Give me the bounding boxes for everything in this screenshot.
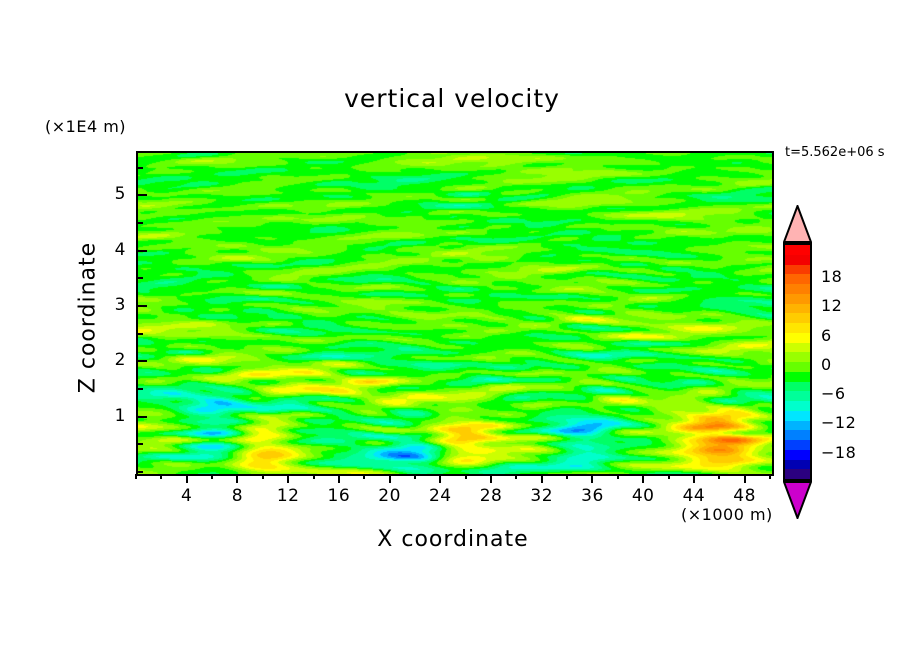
x-tick-major [591,474,593,483]
colorbar-band [785,362,810,372]
colorbar-band [785,343,810,353]
x-tick-label: 44 [672,486,716,506]
colorbar-band [785,274,810,284]
y-tick-minor [138,222,143,224]
y-tick-label: 1 [98,406,126,426]
x-tick-minor [769,474,771,479]
x-tick-minor [160,474,162,479]
y-tick-minor [138,167,143,169]
y-tick-major [138,194,147,196]
vertical-velocity-field [138,153,772,474]
y-tick-major [138,305,147,307]
colorbar-band [785,245,810,255]
colorbar-label: −18 [821,443,856,462]
x-tick-major [439,474,441,483]
page-title: vertical velocity [0,84,904,113]
x-tick-minor [363,474,365,479]
y-tick-minor [138,471,143,473]
colorbar-band [785,450,810,460]
x-tick-minor [515,474,517,479]
x-tick-minor [465,474,467,479]
colorbar-top-arrow-icon [783,205,812,243]
x-tick-minor [262,474,264,479]
colorbar-band [785,323,810,333]
y-tick-minor [138,443,143,445]
x-tick-label: 40 [621,486,665,506]
colorbar-band [785,284,810,294]
x-tick-major [186,474,188,483]
y-tick-minor [138,277,143,279]
x-tick-minor [668,474,670,479]
x-tick-major [389,474,391,483]
x-axis-title: X coordinate [136,527,770,552]
y-tick-major [138,416,147,418]
y-axis-units-label: (×1E4 m) [45,117,126,136]
colorbar-band [785,294,810,304]
x-tick-minor [414,474,416,479]
y-axis-title: Z coordinate [76,208,101,428]
x-tick-label: 12 [266,486,310,506]
x-tick-label: 20 [368,486,412,506]
x-tick-minor [135,474,137,479]
colorbar-bottom-arrow-icon [783,481,812,519]
x-tick-label: 4 [165,486,209,506]
colorbar-label: −6 [821,384,846,403]
x-tick-label: 8 [215,486,259,506]
colorbar-band [785,391,810,401]
x-tick-minor [718,474,720,479]
x-tick-label: 32 [520,486,564,506]
x-tick-major [744,474,746,483]
y-tick-major [138,360,147,362]
y-tick-label: 5 [98,184,126,204]
x-tick-label: 28 [469,486,513,506]
x-tick-label: 36 [570,486,614,506]
y-tick-minor [138,388,143,390]
colorbar-band [785,401,810,411]
x-axis-units-label: (×1000 m) [681,505,773,524]
x-tick-label: 16 [317,486,361,506]
colorbar-band [785,255,810,265]
x-tick-major [541,474,543,483]
x-tick-major [287,474,289,483]
x-tick-label: 48 [723,486,767,506]
contour-plot-area [136,151,774,476]
colorbar-band [785,411,810,421]
x-tick-major [490,474,492,483]
colorbar-band [785,469,810,479]
colorbar-label: 0 [821,355,832,374]
x-tick-minor [211,474,213,479]
x-tick-major [642,474,644,483]
x-tick-minor [617,474,619,479]
colorbar-band [785,372,810,382]
x-tick-minor [313,474,315,479]
timestamp-label: t=5.562e+06 s [785,145,885,160]
colorbar-band [785,313,810,323]
colorbar-bands [783,243,812,481]
colorbar-band [785,304,810,314]
colorbar-band [785,333,810,343]
figure-canvas: vertical velocity (×1E4 m) (×1000 m) t=5… [0,0,904,654]
colorbar-band [785,440,810,450]
y-tick-minor [138,333,143,335]
title-text: vertical velocity [344,84,560,113]
colorbar-band [785,460,810,470]
x-tick-major [236,474,238,483]
colorbar-label: −12 [821,413,856,432]
x-tick-major [693,474,695,483]
colorbar-label: 6 [821,326,832,345]
x-tick-label: 24 [418,486,462,506]
colorbar-band [785,265,810,275]
colorbar-band [785,430,810,440]
colorbar-band [785,352,810,362]
colorbar-label: 18 [821,267,842,286]
colorbar-label: 12 [821,296,842,315]
colorbar: 181260−6−12−18 [781,205,901,525]
y-tick-label: 2 [98,350,126,370]
y-tick-major [138,250,147,252]
colorbar-band [785,421,810,431]
y-tick-label: 3 [98,295,126,315]
y-tick-label: 4 [98,240,126,260]
x-tick-minor [566,474,568,479]
colorbar-band [785,382,810,392]
x-tick-major [338,474,340,483]
